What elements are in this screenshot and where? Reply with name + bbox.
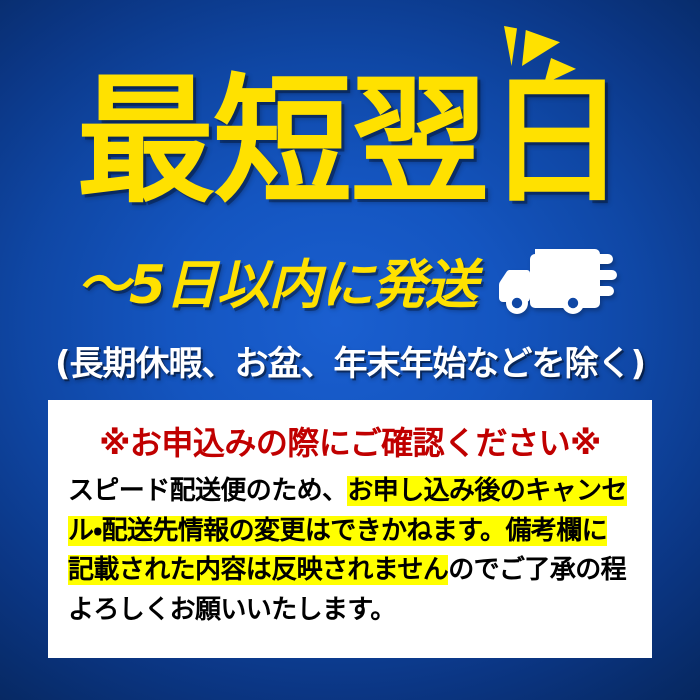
- notice-card-body: スピード配送便のため、お申し込み後のキャンセル・配送先情報の変更はできかねます。…: [68, 472, 632, 630]
- delivery-truck-icon: [495, 246, 623, 316]
- hero-subheadline-row: 〜5日以内に発送: [0, 243, 700, 319]
- hero-exclusion-note: (長期休暇、お盆、年末年始などを除く): [0, 336, 700, 385]
- shipping-promo-banner: 最短翌日 〜5日以内に発送 (長期休暇、お盆、年末年始などを除く) ※お申込みの…: [0, 0, 700, 700]
- notice-card: ※お申込みの際にご確認ください※ スピード配送便のため、お申し込み後のキャンセル…: [48, 400, 652, 658]
- hero-subheadline: 〜5日以内に発送: [77, 243, 477, 319]
- hero-headline: 最短翌日: [0, 72, 700, 211]
- notice-text-plain-lead: スピード配送便のため、: [68, 476, 347, 506]
- notice-card-title: ※お申込みの際にご確認ください※: [68, 418, 632, 464]
